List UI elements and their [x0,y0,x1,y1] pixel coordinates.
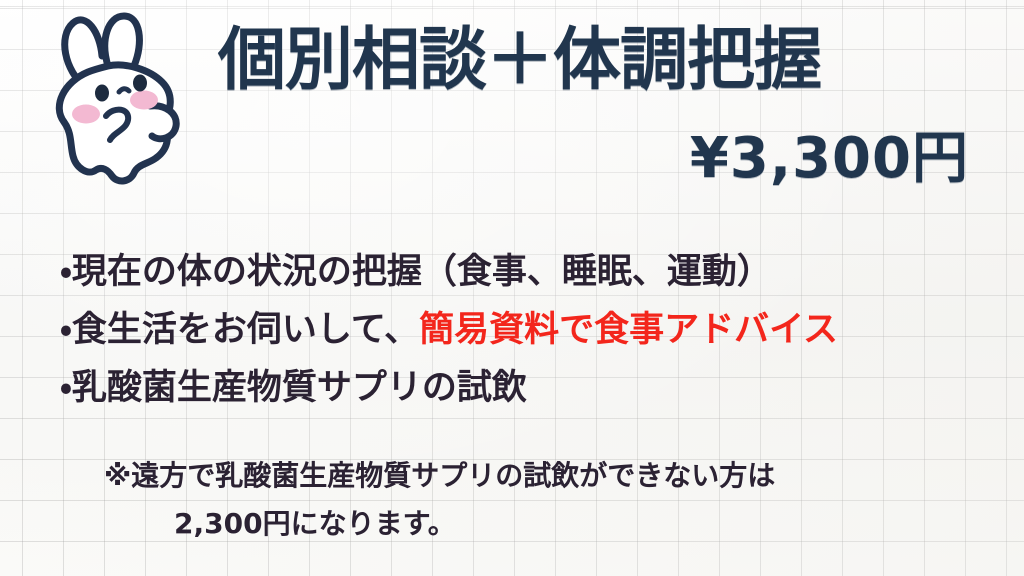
footnote: ※遠方で乳酸菌生産物質サプリの試飲ができない方は 2,300円になります。 [104,452,775,548]
eye-right [133,75,147,92]
bullet-marker: ・ [60,368,72,408]
list-item: ・食生活をお伺いして、簡易資料で食事アドバイス [60,301,990,359]
bullet-marker: ・ [60,252,72,292]
rabbit-mascot-icon [30,10,210,190]
footnote-line-2: 2,300円になります。 [104,500,775,548]
eye-left [95,85,109,102]
price-label: ¥3,300円 [690,113,969,194]
blush-right [130,91,158,110]
bullet-marker: ・ [60,310,72,350]
bullet-text: 食生活をお伺いして、 [72,310,419,350]
feature-list: ・現在の体の状況の把握（食事、睡眠、運動） ・食生活をお伺いして、簡易資料で食事… [60,243,990,417]
slide-canvas: 個別相談＋体調把握 ¥3,300円 ・現在の体の状況の把握（食事、睡眠、運動） … [0,0,1024,576]
blush-left [72,105,100,124]
bullet-text: 乳酸菌生産物質サプリの試飲 [72,368,527,408]
list-item: ・現在の体の状況の把握（食事、睡眠、運動） [60,243,990,301]
footnote-line-1: ※遠方で乳酸菌生産物質サプリの試飲ができない方は [104,459,775,492]
list-item: ・乳酸菌生産物質サプリの試飲 [60,359,990,417]
bullet-text: 現在の体の状況の把握（食事、睡眠、運動） [72,252,772,292]
page-title: 個別相談＋体調把握 [218,26,978,95]
bullet-accent-text: 簡易資料で食事アドバイス [419,310,838,350]
